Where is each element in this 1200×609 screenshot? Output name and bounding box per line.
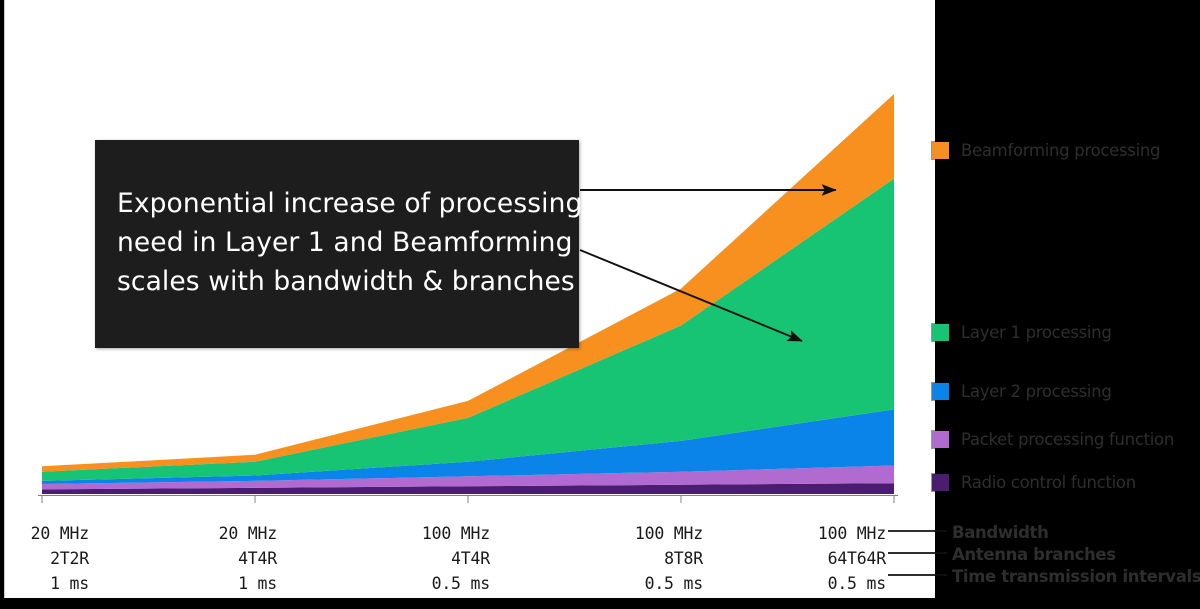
x-bandwidth-1: 20 MHz	[97, 521, 277, 546]
x-bandwidth-3: 100 MHz	[523, 521, 703, 546]
x-axis-group-4: 100 MHz 64T64R 0.5 ms	[706, 521, 886, 596]
slide-canvas: Exponential increase of processing need …	[0, 0, 1200, 609]
callout-line-2: need in Layer 1 and Beamforming -	[117, 223, 569, 262]
x-tti-0: 1 ms	[0, 571, 89, 596]
x-axis-group-0: 20 MHz 2T2R 1 ms	[0, 521, 89, 596]
x-axis-labels: 20 MHz 2T2R 1 ms 20 MHz 4T4R 1 ms 100 MH…	[4, 506, 935, 598]
callout-line-1: Exponential increase of processing	[117, 184, 569, 223]
x-branches-2: 4T4R	[310, 546, 490, 571]
x-bandwidth-4: 100 MHz	[706, 521, 886, 546]
row-label-tti: Time transmission intervals	[952, 567, 1200, 586]
x-axis-group-2: 100 MHz 4T4R 0.5 ms	[310, 521, 490, 596]
x-tti-3: 0.5 ms	[523, 571, 703, 596]
x-branches-4: 64T64R	[706, 546, 886, 571]
x-axis-group-3: 100 MHz 8T8R 0.5 ms	[523, 521, 703, 596]
x-tti-1: 1 ms	[97, 571, 277, 596]
row-label-bandwidth: Bandwidth	[952, 523, 1048, 542]
x-tti-4: 0.5 ms	[706, 571, 886, 596]
row-label-antenna-branches: Antenna branches	[952, 545, 1116, 564]
x-tti-2: 0.5 ms	[310, 571, 490, 596]
axis-row-labels: Bandwidth Antenna branches Time transmis…	[932, 0, 1200, 609]
x-bandwidth-0: 20 MHz	[0, 521, 89, 546]
callout-line-3: scales with bandwidth & branches	[117, 262, 569, 301]
x-axis-group-1: 20 MHz 4T4R 1 ms	[97, 521, 277, 596]
annotation-callout: Exponential increase of processing need …	[95, 140, 579, 348]
x-branches-0: 2T2R	[0, 546, 89, 571]
x-branches-3: 8T8R	[523, 546, 703, 571]
x-branches-1: 4T4R	[97, 546, 277, 571]
annotation-callout-text: Exponential increase of processing need …	[117, 184, 569, 301]
x-bandwidth-2: 100 MHz	[310, 521, 490, 546]
